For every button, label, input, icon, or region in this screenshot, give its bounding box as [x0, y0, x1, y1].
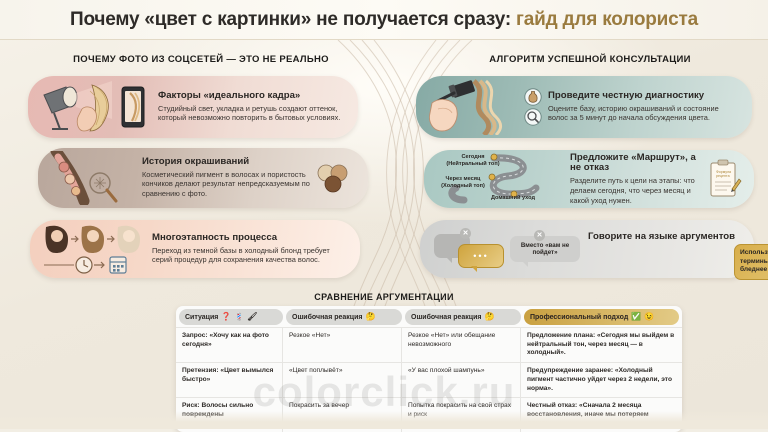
brush-hand-hair-illustration: [428, 79, 524, 135]
column-label: Ошибочная реакция: [411, 314, 481, 321]
diagnostics-icons: [524, 88, 542, 126]
cell-wrong-2: Резкое «Нет» или обещание невозможного: [402, 328, 521, 362]
check-icon: ✅: [631, 313, 641, 321]
page-title-main: Почему «цвет с картинки» не получается с…: [70, 9, 511, 30]
ellipsis-label: •••: [473, 251, 488, 262]
column-label: Ситуация: [185, 314, 218, 321]
card-text: Многоэтапность процесса Переход из темно…: [146, 233, 348, 265]
column-label: Профессиональный подход: [530, 314, 628, 321]
close-icon: ✕: [534, 230, 545, 241]
card-title: Предложите «Маршрут», а не отказ: [570, 153, 708, 174]
bubble-wrong-label: Вместо «вам не пойдет»: [514, 242, 576, 257]
table-header-row: Ситуация ❓ 💈 🖌 Ошибочная реакция 🤔 Ошибо…: [176, 306, 682, 327]
card-honest-diagnostics[interactable]: Проведите честную диагностику Оцените ба…: [416, 76, 752, 138]
card-text: Предложите «Маршрут», а не отказ Раздели…: [564, 153, 708, 206]
card-body: Студийный свет, укладка и ретушь создают…: [158, 104, 346, 124]
professional-advice-text: Используйте профессиональные термины: «э…: [734, 244, 768, 280]
roadmap-label-today: Сегодня (Нейтральный топ): [444, 154, 502, 167]
infographic-page: Почему «цвет с картинки» не получается с…: [0, 0, 768, 429]
card-title: История окрашиваний: [142, 157, 316, 168]
card-body: Оцените базу, историю окрашиваний и сост…: [548, 104, 740, 124]
thinking-face-icon: 🤔: [484, 313, 494, 321]
bottle-icon: [524, 88, 542, 106]
table-row: Претензия: «Цвет вымылся быстро» «Цвет п…: [176, 362, 682, 397]
cell-situation: Запрос: «Хочу как на фото сегодня»: [176, 328, 283, 362]
three-stages-clock-calendar-illustration: [42, 223, 146, 275]
table-row: Запрос: «Хочу как на фото сегодня» Резко…: [176, 327, 682, 362]
table-column-wrong-reaction-1[interactable]: Ошибочная реакция 🤔: [286, 309, 402, 325]
hair-color-swatches-icon: [316, 163, 356, 193]
svg-text:рецепта: рецепта: [716, 174, 730, 178]
speech-bubble-highlight: •••: [458, 244, 504, 268]
hair-brush-icon: 🖌: [247, 313, 257, 321]
card-language-of-arguments[interactable]: ✕ ••• Вместо «вам не пойдет» ✕ Говорите …: [420, 220, 754, 278]
speech-bubble-wrong-phrase: Вместо «вам не пойдет»: [510, 236, 580, 262]
card-body: Косметический пигмент в волосах и порист…: [142, 170, 316, 199]
comparison-table-title: СРАВНЕНИЕ АРГУМЕНТАЦИИ: [0, 292, 768, 302]
wink-face-icon: 😉: [644, 313, 654, 321]
column-label: Ошибочная реакция: [292, 314, 362, 321]
cell-professional: Предупреждение заранее: «Холодный пигмен…: [521, 363, 682, 397]
left-column-heading: ПОЧЕМУ ФОТО ИЗ СОЦСЕТЕЙ — ЭТО НЕ РЕАЛЬНО: [36, 54, 366, 65]
card-body: Переход из темной базы в холодный блонд …: [152, 246, 348, 266]
cell-wrong-1: Резкое «Нет»: [283, 328, 402, 362]
cell-wrong-2: «У вас плохой шампунь»: [402, 363, 521, 397]
right-column-heading: АЛГОРИТМ УСПЕШНОЙ КОНСУЛЬТАЦИИ: [430, 54, 750, 65]
footer-gradient: [0, 411, 768, 429]
page-title: Почему «цвет с картинки» не получается с…: [70, 9, 698, 31]
question-icon: ❓: [221, 313, 231, 321]
card-title: Говорите на языке аргументов: [588, 228, 742, 243]
card-text: Факторы «идеального кадра» Студийный све…: [152, 91, 346, 123]
card-offer-route[interactable]: Сегодня (Нейтральный топ) Через месяц (Х…: [424, 150, 754, 208]
page-title-accent: гайд для колориста: [511, 9, 698, 30]
studio-light-hair-phone-illustration: [40, 79, 152, 135]
card-text: Проведите честную диагностику Оцените ба…: [542, 91, 740, 123]
table-column-professional-approach[interactable]: Профессиональный подход ✅ 😉: [524, 309, 679, 325]
card-coloring-history[interactable]: История окрашиваний Косметический пигмен…: [38, 148, 368, 208]
card-body: Разделите путь к цели на этапы: что дела…: [570, 176, 708, 205]
card-text: История окрашиваний Косметический пигмен…: [136, 157, 316, 199]
thinking-face-icon: 🤔: [365, 313, 375, 321]
close-icon: ✕: [460, 228, 471, 239]
cell-situation: Претензия: «Цвет вымылся быстро»: [176, 363, 283, 397]
magnifier-icon: [524, 108, 542, 126]
cell-wrong-1: «Цвет поплывёт»: [283, 363, 402, 397]
cell-professional: Предложение плана: «Сегодня мы выйдем в …: [521, 328, 682, 362]
roadmap-illustration: Сегодня (Нейтральный топ) Через месяц (Х…: [436, 152, 564, 206]
hair-strand-magnifier-illustration: [50, 151, 136, 205]
card-title: Факторы «идеального кадра»: [158, 91, 346, 102]
clipboard-icon: Формула рецепта: [708, 159, 742, 199]
roadmap-label-month: Через месяц (Холодный топ): [436, 176, 490, 189]
hair-dryer-icon: 💈: [234, 313, 244, 321]
table-column-wrong-reaction-2[interactable]: Ошибочная реакция 🤔: [405, 309, 521, 325]
card-title: Проведите честную диагностику: [548, 91, 740, 102]
table-column-situation[interactable]: Ситуация ❓ 💈 🖌: [179, 309, 283, 325]
speech-bubbles-illustration: ✕ ••• Вместо «вам не пойдет» ✕: [432, 226, 582, 272]
roadmap-label-homecare: Домашний уход: [484, 195, 542, 202]
card-text: Говорите на языке аргументов Используйте…: [582, 228, 742, 270]
card-factors-perfect-shot[interactable]: Факторы «идеального кадра» Студийный све…: [28, 76, 358, 138]
page-header: Почему «цвет с картинки» не получается с…: [0, 0, 768, 40]
card-title: Многоэтапность процесса: [152, 233, 348, 244]
card-multistage-process[interactable]: Многоэтапность процесса Переход из темно…: [30, 220, 360, 278]
